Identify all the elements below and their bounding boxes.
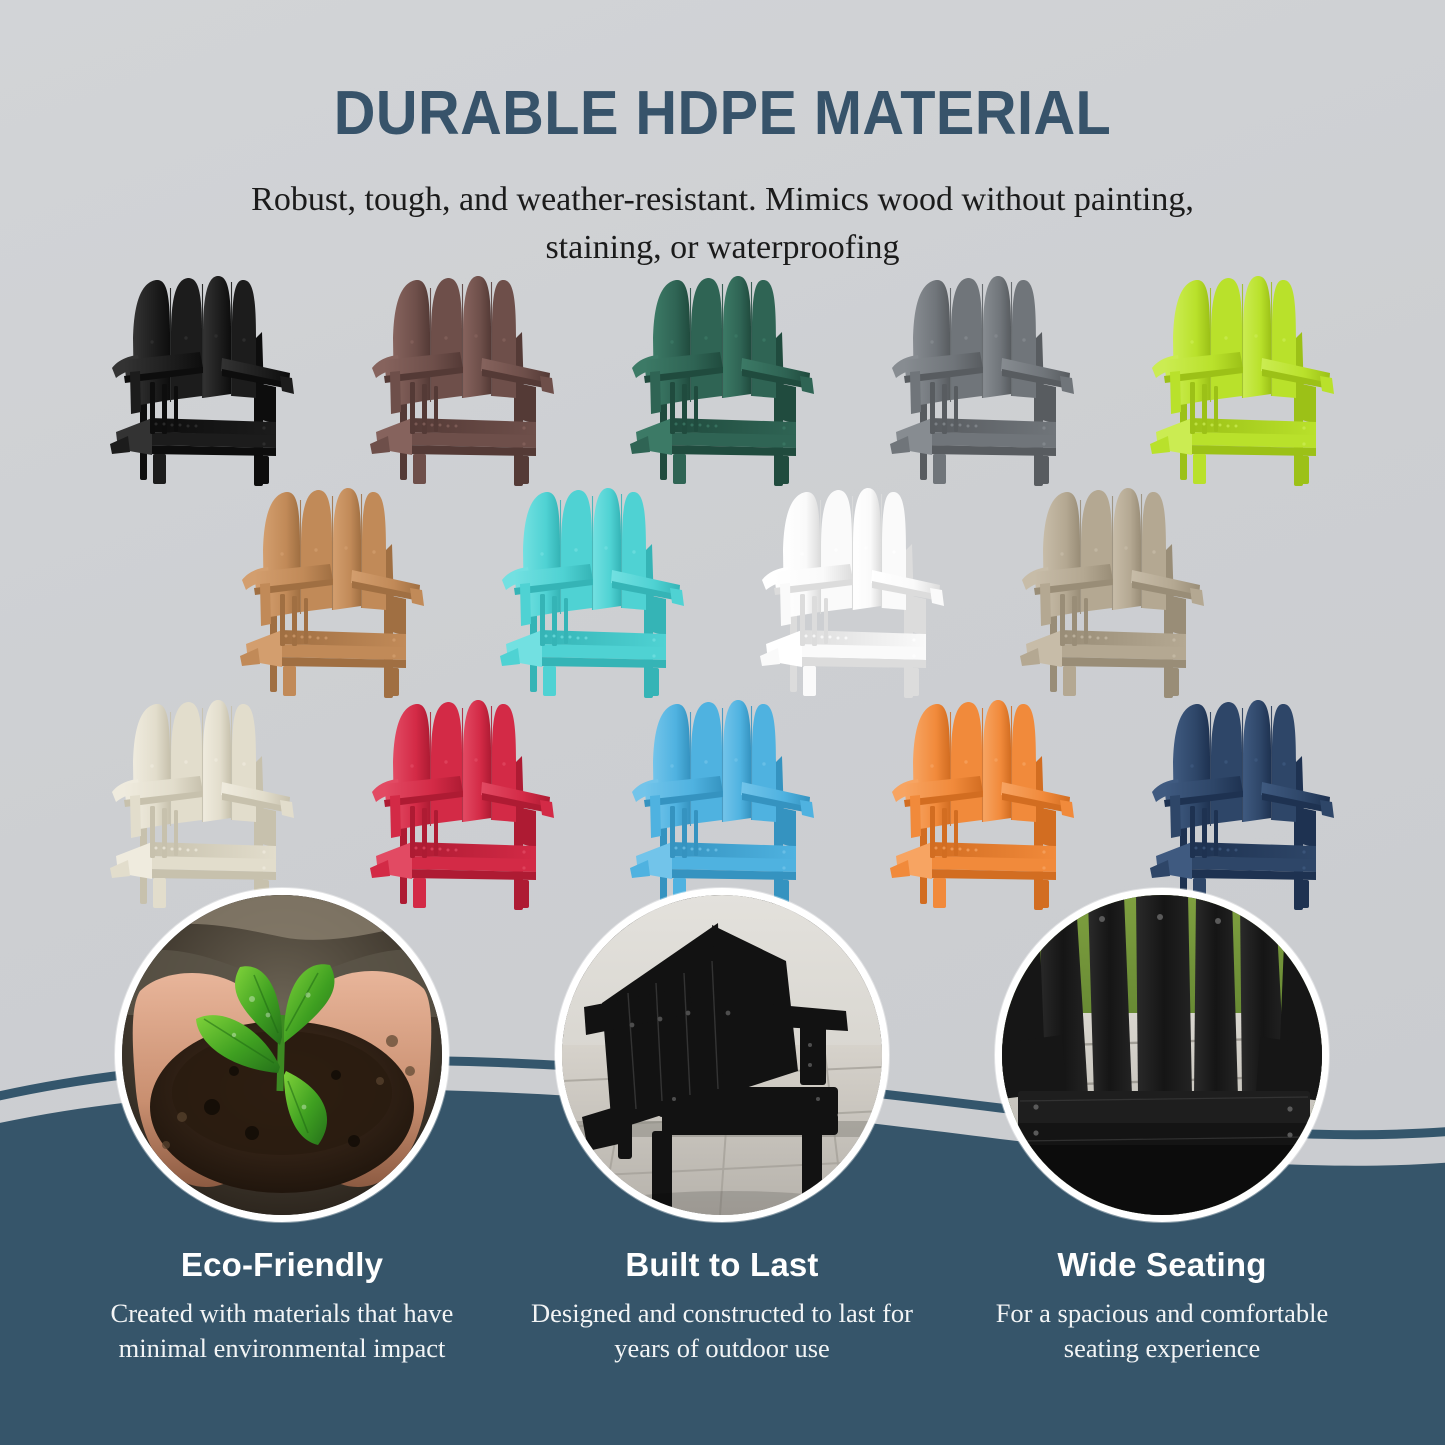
adirondack-chair-dark-green xyxy=(624,272,822,487)
feature-built-to-last: Built to Last Designed and constructed t… xyxy=(512,888,932,1366)
adirondack-chair-greige xyxy=(1014,484,1212,699)
wide-seating-photo xyxy=(995,888,1329,1222)
adirondack-chair-white xyxy=(754,484,952,699)
chair-swatch-navy[interactable] xyxy=(1144,696,1342,911)
page-subtitle: Robust, tough, and weather-resistant. Mi… xyxy=(223,176,1223,273)
chair-swatch-light-blue[interactable] xyxy=(624,696,822,911)
infographic-root: DURABLE HDPE MATERIAL Robust, tough, and… xyxy=(0,0,1445,1445)
adirondack-chair-teak xyxy=(234,484,432,699)
adirondack-chair-light-blue xyxy=(624,696,822,911)
adirondack-chair-lime-green xyxy=(1144,272,1342,487)
eco-friendly-photo xyxy=(115,888,449,1222)
adirondack-chair-brown xyxy=(364,272,562,487)
chair-row-3 xyxy=(0,696,1445,911)
page-title: DURABLE HDPE MATERIAL xyxy=(51,78,1395,149)
feature-title: Wide Seating xyxy=(952,1246,1372,1284)
chair-swatch-turquoise[interactable] xyxy=(494,484,692,699)
adirondack-chair-ivory xyxy=(104,696,302,911)
adirondack-chair-turquoise xyxy=(494,484,692,699)
chair-swatch-lime-green[interactable] xyxy=(1144,272,1342,487)
chair-swatch-black[interactable] xyxy=(104,272,302,487)
chair-swatch-dark-green[interactable] xyxy=(624,272,822,487)
adirondack-chair-orange xyxy=(884,696,1082,911)
feature-wide-seating: Wide Seating For a spacious and comforta… xyxy=(952,888,1372,1366)
chair-color-grid xyxy=(0,272,1445,912)
chair-swatch-teak[interactable] xyxy=(234,484,432,699)
chair-row-1 xyxy=(0,272,1445,487)
built-to-last-photo xyxy=(555,888,889,1222)
hands-holding-seedling-icon xyxy=(122,895,442,1215)
feature-description: For a spacious and comfortable seating e… xyxy=(952,1296,1372,1366)
chair-swatch-greige[interactable] xyxy=(1014,484,1212,699)
chair-wide-seat-closeup-icon xyxy=(1002,895,1322,1215)
chair-swatch-red[interactable] xyxy=(364,696,562,911)
chair-swatch-brown[interactable] xyxy=(364,272,562,487)
feature-title: Eco-Friendly xyxy=(72,1246,492,1284)
chair-swatch-gray[interactable] xyxy=(884,272,1082,487)
adirondack-chair-navy xyxy=(1144,696,1342,911)
feature-description: Designed and constructed to last for yea… xyxy=(512,1296,932,1366)
feature-description: Created with materials that have minimal… xyxy=(72,1296,492,1366)
adirondack-chair-black xyxy=(104,272,302,487)
feature-title: Built to Last xyxy=(512,1246,932,1284)
chair-swatch-orange[interactable] xyxy=(884,696,1082,911)
chair-swatch-white[interactable] xyxy=(754,484,952,699)
chair-swatch-ivory[interactable] xyxy=(104,696,302,911)
black-chair-on-patio-icon xyxy=(562,895,882,1215)
feature-list: Eco-Friendly Created with materials that… xyxy=(0,888,1445,1445)
chair-row-2 xyxy=(0,484,1445,699)
adirondack-chair-red xyxy=(364,696,562,911)
feature-eco-friendly: Eco-Friendly Created with materials that… xyxy=(72,888,492,1366)
adirondack-chair-gray xyxy=(884,272,1082,487)
